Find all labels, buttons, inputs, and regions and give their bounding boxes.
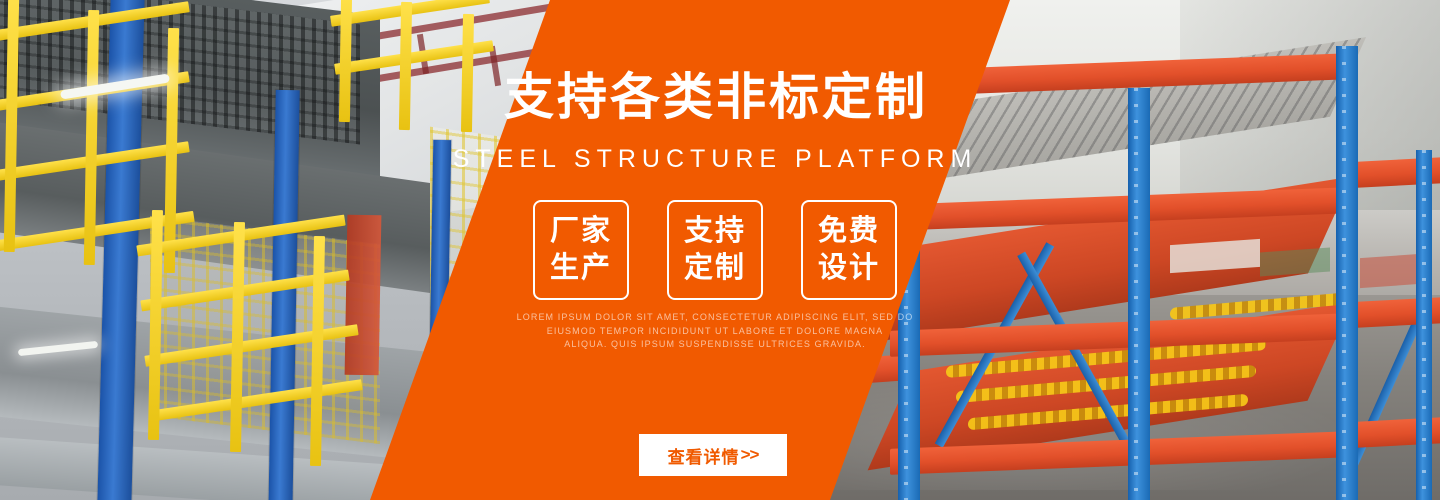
feature-badge-line1: 免费 (818, 213, 880, 250)
view-details-button[interactable]: 查看详情>> (639, 434, 787, 476)
banner-content: 支持各类非标定制 STEEL STRUCTURE PLATFORM 厂家 生产 … (0, 0, 1440, 500)
description-line-3: ALIQUA. QUIS IPSUM SUSPENDISSE ULTRICES … (0, 338, 1435, 352)
feature-badge-line2: 生产 (550, 250, 612, 287)
description-line-2: EIUSMOD TEMPOR INCIDIDUNT UT LABORE ET D… (0, 325, 1435, 339)
feature-badge-customization: 支持 定制 (667, 200, 763, 300)
feature-badge-line1: 厂家 (550, 213, 612, 250)
view-details-label: 查看详情 (668, 443, 740, 468)
double-chevron-right-icon: >> (741, 445, 759, 465)
feature-badge-group: 厂家 生产 支持 定制 免费 设计 (0, 200, 1435, 300)
feature-badge-line2: 设计 (818, 250, 880, 287)
description-line-1: LOREM IPSUM DOLOR SIT AMET, CONSECTETUR … (0, 311, 1435, 325)
feature-badge-line1: 支持 (684, 213, 746, 250)
promo-banner: 支持各类非标定制 STEEL STRUCTURE PLATFORM 厂家 生产 … (0, 0, 1440, 500)
cta-container: 查看详情>> (0, 434, 1433, 476)
banner-description: LOREM IPSUM DOLOR SIT AMET, CONSECTETUR … (0, 311, 1435, 352)
banner-subheadline: STEEL STRUCTURE PLATFORM (0, 145, 1435, 174)
banner-headline: 支持各类非标定制 (0, 72, 1436, 122)
feature-badge-manufacturer: 厂家 生产 (533, 200, 629, 300)
feature-badge-free-design: 免费 设计 (801, 200, 897, 300)
feature-badge-line2: 定制 (684, 250, 746, 287)
